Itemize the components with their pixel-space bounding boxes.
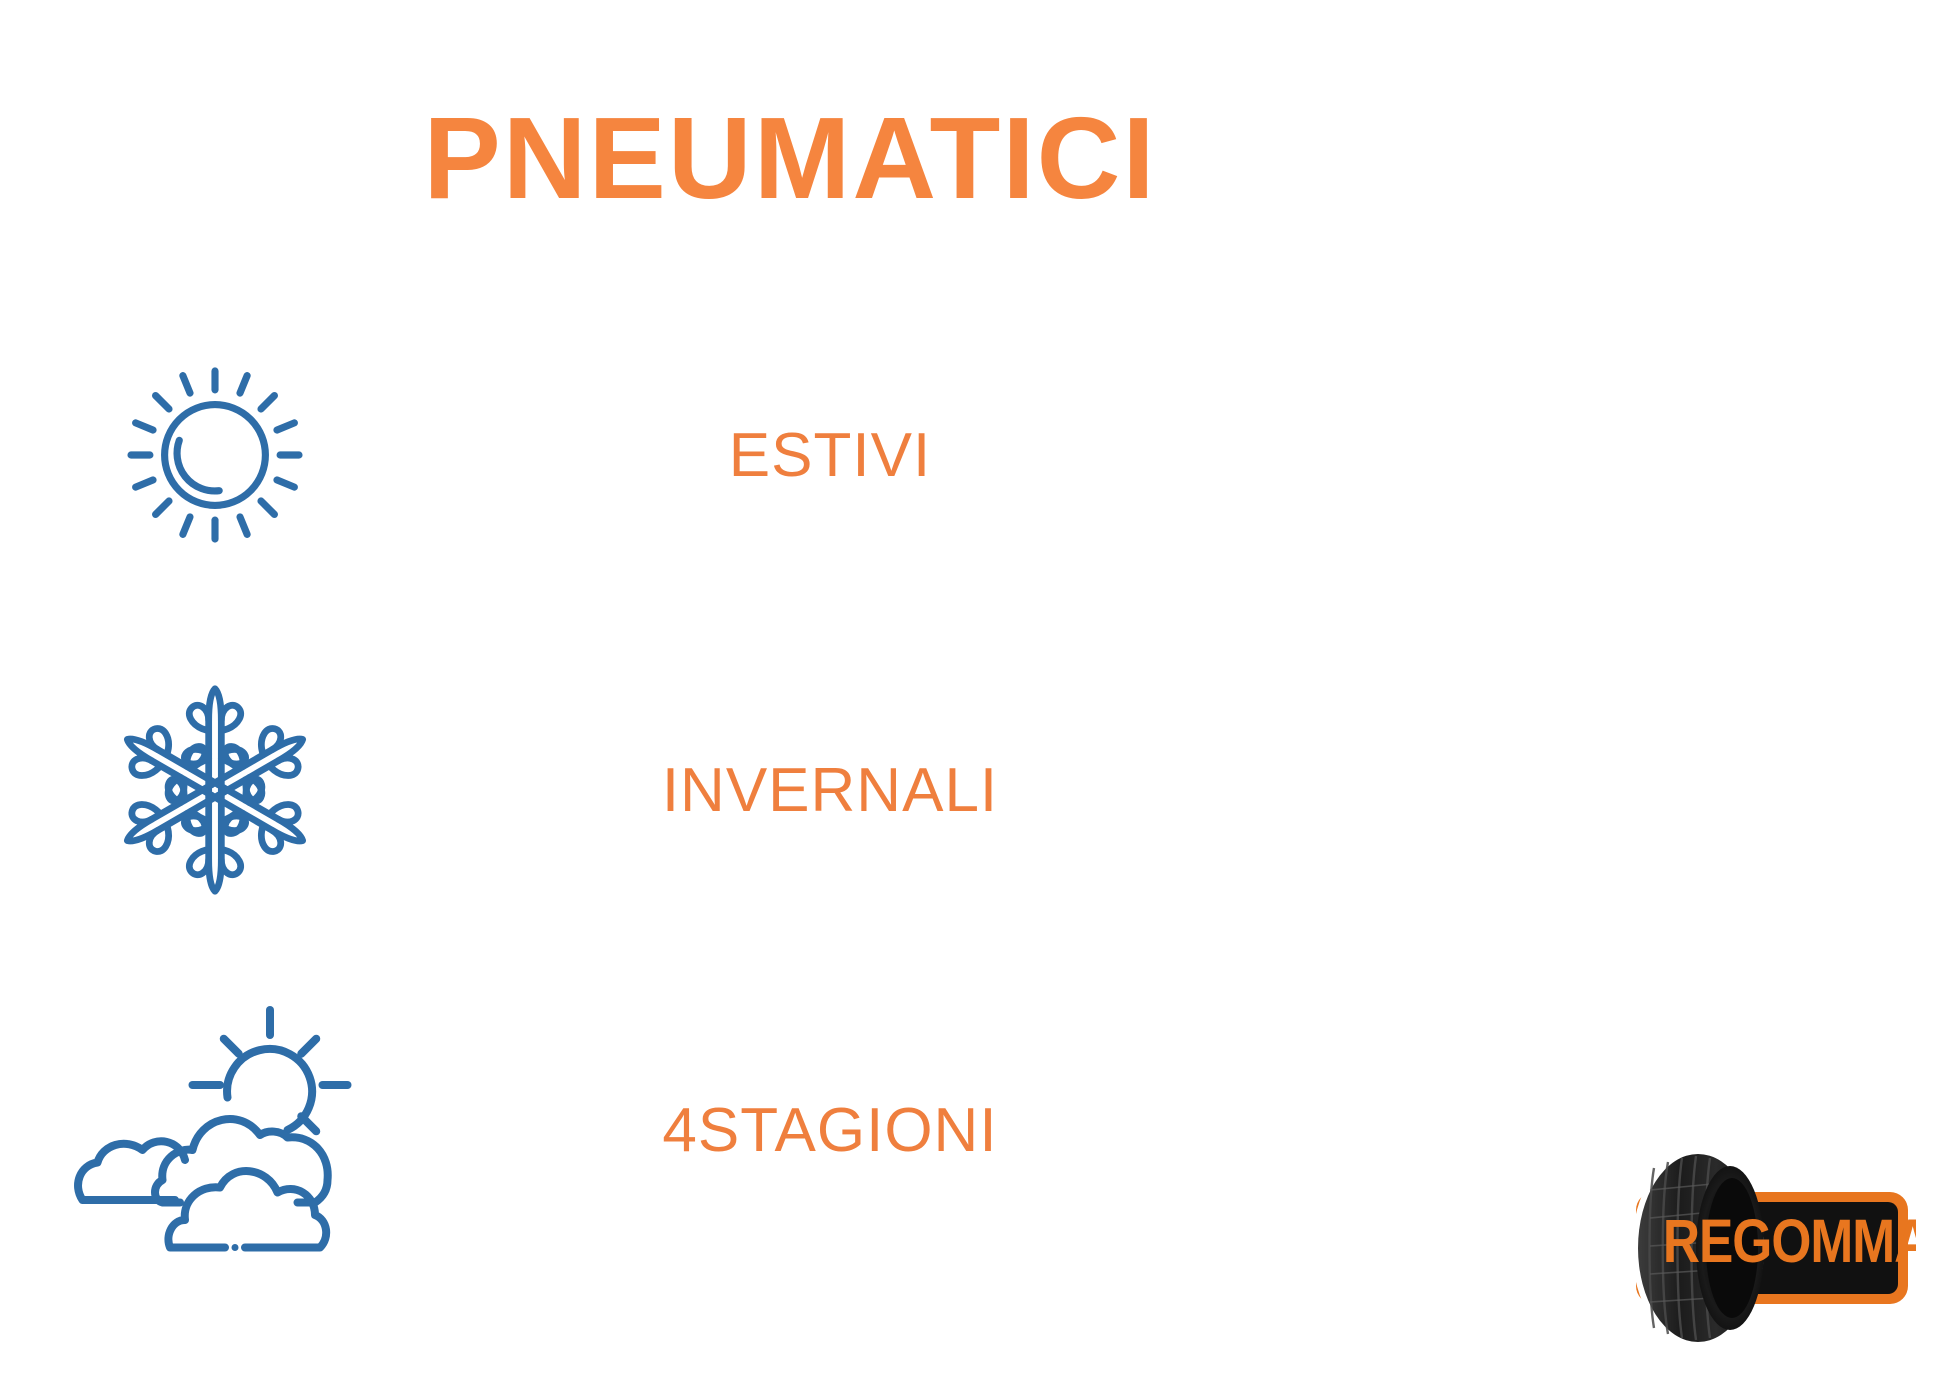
poster-canvas: PNEUMATICI bbox=[0, 0, 1946, 1376]
regomma-logo[interactable]: REGOMMA bbox=[1606, 1140, 1916, 1355]
list-item-label: 4STAGIONI bbox=[662, 1095, 997, 1166]
list-item[interactable]: 4STAGIONI bbox=[0, 1005, 1200, 1255]
list-item-label-cell: INVERNALI bbox=[430, 755, 1200, 826]
sun-behind-clouds-icon bbox=[0, 1005, 430, 1255]
snowflake-icon bbox=[0, 665, 430, 915]
list-item[interactable]: ESTIVI bbox=[0, 330, 1200, 580]
list-item-label: ESTIVI bbox=[729, 420, 931, 491]
list-item-label-cell: ESTIVI bbox=[430, 420, 1200, 491]
list-item[interactable]: INVERNALI bbox=[0, 665, 1200, 915]
page-title: PNEUMATICI bbox=[0, 100, 1580, 216]
list-item-label-cell: 4STAGIONI bbox=[430, 1095, 1200, 1166]
sun-icon bbox=[0, 330, 430, 580]
regomma-wordmark: REGOMMA bbox=[1663, 1207, 1916, 1275]
list-item-label: INVERNALI bbox=[662, 755, 998, 826]
